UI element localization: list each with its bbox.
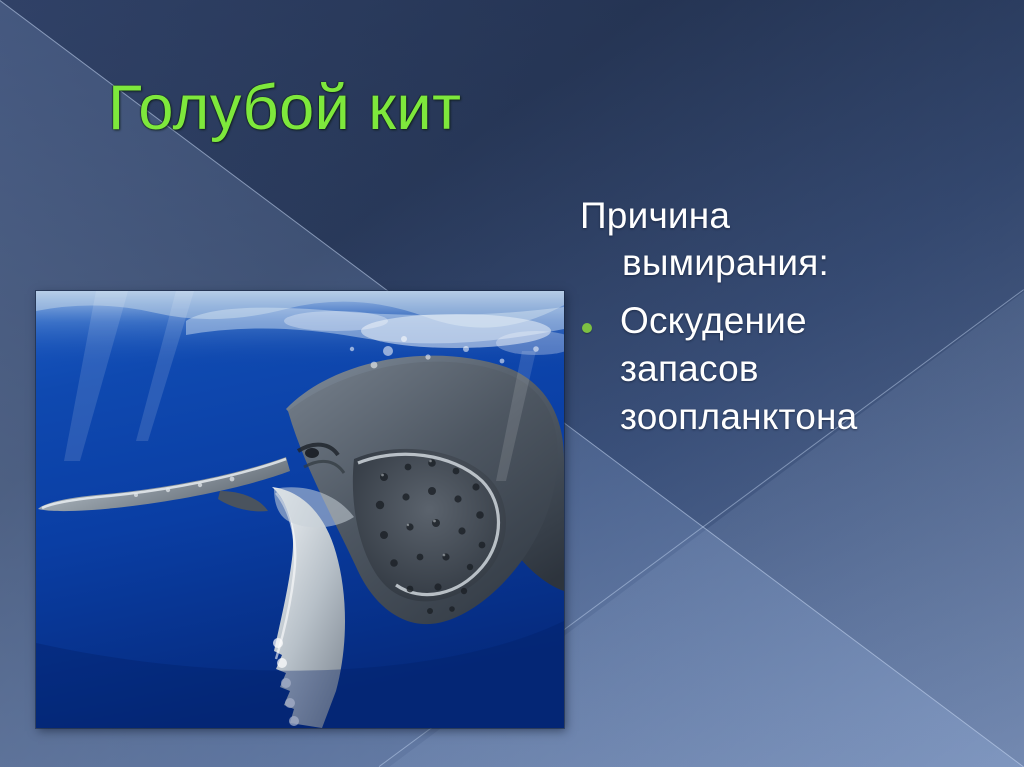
bullet-line-2: запасов <box>620 345 857 393</box>
presentation-slide: Голубой кит <box>0 0 1024 767</box>
bullet-dot-icon <box>582 323 592 333</box>
bullet-line-1: Оскудение <box>620 297 857 345</box>
bullet-line-3: зоопланктона <box>620 393 857 441</box>
bullet-text: Оскудение запасов зоопланктона <box>620 297 857 441</box>
slide-body: Причина вымирания: Оскудение запасов зоо… <box>568 192 1014 441</box>
slide-title: Голубой кит <box>108 72 461 144</box>
lead-paragraph: Причина вымирания: <box>568 192 1014 287</box>
lead-line-2: вымирания: <box>580 239 1014 286</box>
whale-photo <box>36 291 564 728</box>
list-item: Оскудение запасов зоопланктона <box>568 297 1014 441</box>
lead-line-1: Причина <box>580 195 730 236</box>
